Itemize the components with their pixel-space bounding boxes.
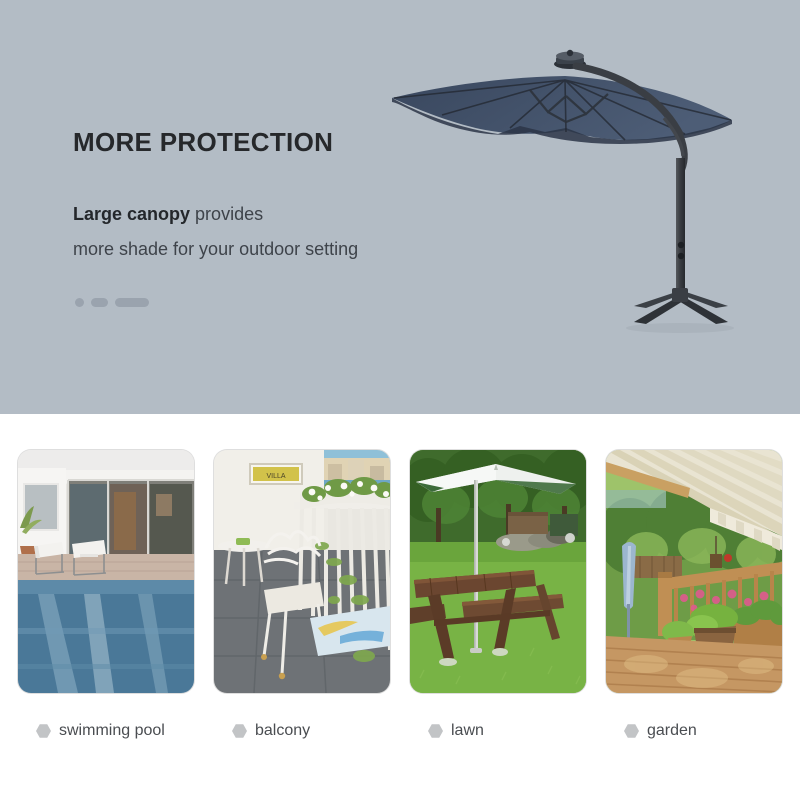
cross-base	[634, 288, 728, 324]
hexagon-bullet-icon	[232, 724, 247, 739]
pager-dot-2[interactable]	[91, 298, 108, 307]
carousel-pager[interactable]	[75, 298, 149, 307]
caption-label: lawn	[451, 722, 484, 740]
product-feature-page: MORE PROTECTION Large canopy provides mo…	[0, 0, 800, 800]
crank-knob-upper	[678, 242, 684, 248]
hero-subtitle-rest: provides	[190, 204, 263, 224]
caption-balcony: balcony	[214, 714, 390, 748]
caption-lawn: lawn	[410, 714, 586, 748]
umbrella-pole	[676, 158, 685, 298]
hero-subtitle-emphasis: Large canopy	[73, 204, 190, 224]
base-shadow	[626, 323, 734, 333]
hero-subtitle-line2: more shade for your outdoor setting	[73, 239, 358, 259]
hexagon-bullet-icon	[624, 724, 639, 739]
gallery-card-garden[interactable]	[606, 450, 782, 693]
caption-garden: garden	[606, 714, 782, 748]
caption-label: swimming pool	[59, 722, 165, 740]
gallery-card-lawn[interactable]	[410, 450, 586, 693]
svg-text:VILLA: VILLA	[266, 473, 285, 480]
hexagon-bullet-icon	[428, 724, 443, 739]
hexagon-bullet-icon	[36, 724, 51, 739]
gallery-captions: swimming pool balcony lawn garden	[0, 714, 800, 748]
caption-swimming-pool: swimming pool	[18, 714, 194, 748]
scene-gallery: VILLA	[0, 450, 800, 700]
gallery-card-swimming-pool[interactable]	[18, 450, 194, 693]
product-image-umbrella	[380, 40, 740, 340]
hero-banner: MORE PROTECTION Large canopy provides mo…	[0, 0, 800, 414]
caption-label: garden	[647, 722, 697, 740]
pager-dot-1[interactable]	[75, 298, 84, 307]
crank-knob-lower	[678, 253, 684, 259]
caption-label: balcony	[255, 722, 310, 740]
pager-dot-3-active[interactable]	[115, 298, 149, 307]
gallery-card-balcony[interactable]: VILLA	[214, 450, 390, 693]
